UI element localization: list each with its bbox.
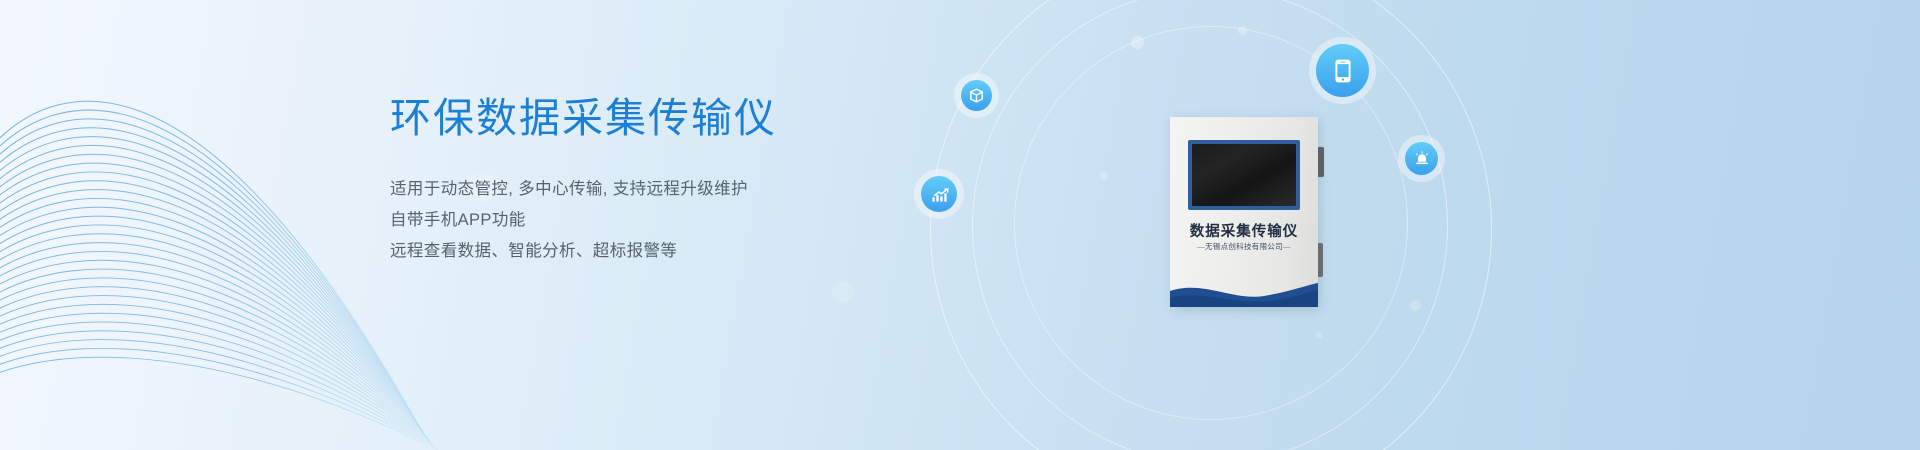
page-title: 环保数据采集传输仪 — [390, 92, 950, 144]
box-icon — [961, 80, 992, 111]
device-screen — [1192, 144, 1296, 206]
chart-icon — [921, 176, 957, 212]
product-device: 数据采集传输仪 —无锡点创科技有限公司— — [1170, 117, 1318, 307]
device-screen-bezel — [1188, 140, 1300, 210]
device-foot-wave — [1170, 277, 1318, 307]
device-side-connector-lower — [1318, 243, 1323, 277]
feature-list-item: 自带手机APP功能 — [390, 205, 950, 236]
phone-icon — [1316, 44, 1369, 97]
product-image-area: 数据采集传输仪 —无锡点创科技有限公司— — [1060, 0, 1680, 450]
alarm-icon — [1405, 142, 1438, 175]
feature-list-item: 远程查看数据、智能分析、超标报警等 — [390, 236, 950, 267]
banner-text-block: 环保数据采集传输仪 适用于动态管控, 多中心传输, 支持远程升级维护 自带手机A… — [390, 92, 950, 267]
feature-list-item: 适用于动态管控, 多中心传输, 支持远程升级维护 — [390, 174, 950, 205]
product-banner: 环保数据采集传输仪 适用于动态管控, 多中心传输, 支持远程升级维护 自带手机A… — [0, 0, 1920, 450]
device-company-label: —无锡点创科技有限公司— — [1170, 241, 1318, 252]
device-brand-label: 数据采集传输仪 — [1170, 220, 1318, 241]
device-side-connector — [1318, 147, 1324, 177]
feature-list: 适用于动态管控, 多中心传输, 支持远程升级维护 自带手机APP功能 远程查看数… — [390, 174, 950, 267]
